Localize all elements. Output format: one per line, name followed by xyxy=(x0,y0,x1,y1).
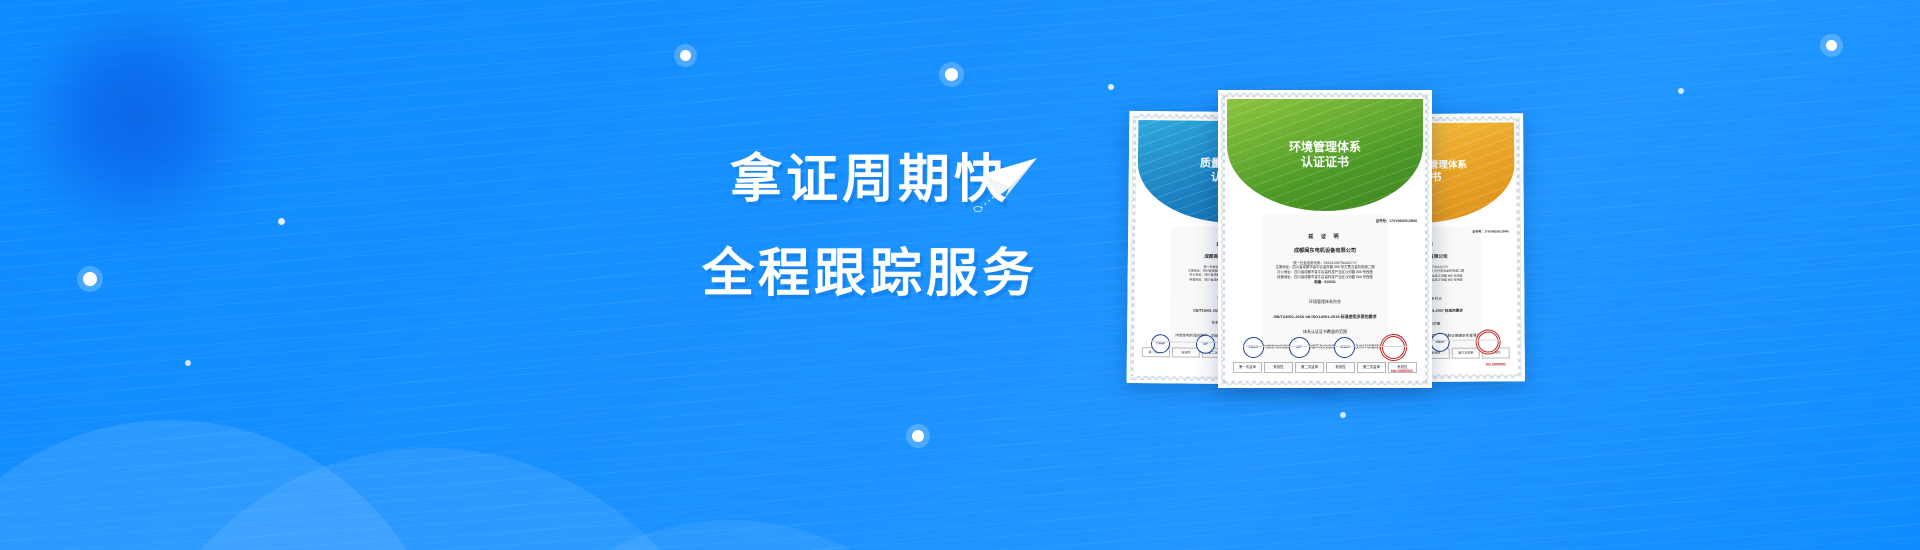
audit-box: 第一次监审 xyxy=(1233,362,1262,373)
cnas-logo-icon-2: CNAS xyxy=(1431,333,1450,352)
background-dot xyxy=(945,68,958,81)
background-dot xyxy=(185,360,191,366)
promo-banner: 拿证周期快 全程跟踪服务 质量管理体系 认证证书 xyxy=(0,0,1920,550)
background-dot xyxy=(1826,40,1837,51)
accreditation-logos: CNAS IAF CNAS xyxy=(1243,334,1408,361)
background-dot xyxy=(1678,88,1684,94)
certificate-crest: 环境管理体系 认证证书 xyxy=(1227,99,1423,211)
paper-plane-icon xyxy=(975,152,1045,212)
cnas-logo-icon-2: CNAS xyxy=(1334,337,1355,358)
cnas-logo-icon: CNAS xyxy=(1243,337,1264,358)
official-seal-icon xyxy=(1380,334,1407,361)
certificate-inner: 环境管理体系 认证证书 证书号：17XV0620012N06 兹 证 明 成都闽… xyxy=(1227,99,1423,379)
background-dot xyxy=(83,272,97,286)
background-glow-blob xyxy=(40,20,250,230)
background-dot xyxy=(912,430,924,442)
headline-line-2: 全程跟踪服务 xyxy=(660,234,1080,314)
serial-value: 17XV0620012N06 xyxy=(1484,229,1509,233)
certificate-title-line-2: 认证证书 xyxy=(1301,155,1349,170)
cnas-logo-icon: CNAS xyxy=(1151,334,1170,353)
certificate-footer-rule xyxy=(1243,346,1408,347)
official-seal-icon xyxy=(1475,329,1500,354)
certificate-title-line-1: 环境管理体系 xyxy=(1289,140,1361,155)
certificate-card-environment[interactable]: 环境管理体系 认证证书 证书号：17XV0620012N06 兹 证 明 成都闽… xyxy=(1218,90,1432,388)
background-dot xyxy=(1340,412,1346,418)
certificate-number: No.0000001 xyxy=(1391,368,1413,374)
certificate-number: No.0000001 xyxy=(1486,362,1506,368)
iaf-logo-icon: IAF xyxy=(1196,335,1215,354)
certificate-stack: 质量管理体系 认证证书 证书号：17XV0620012N06 兹 证 明 成都闽… xyxy=(1100,80,1520,390)
iaf-logo-icon: IAF xyxy=(1289,337,1310,358)
background-dot xyxy=(680,50,691,61)
serial-value: 17XV0620012N06 xyxy=(1389,219,1417,223)
background-dot xyxy=(278,218,285,225)
